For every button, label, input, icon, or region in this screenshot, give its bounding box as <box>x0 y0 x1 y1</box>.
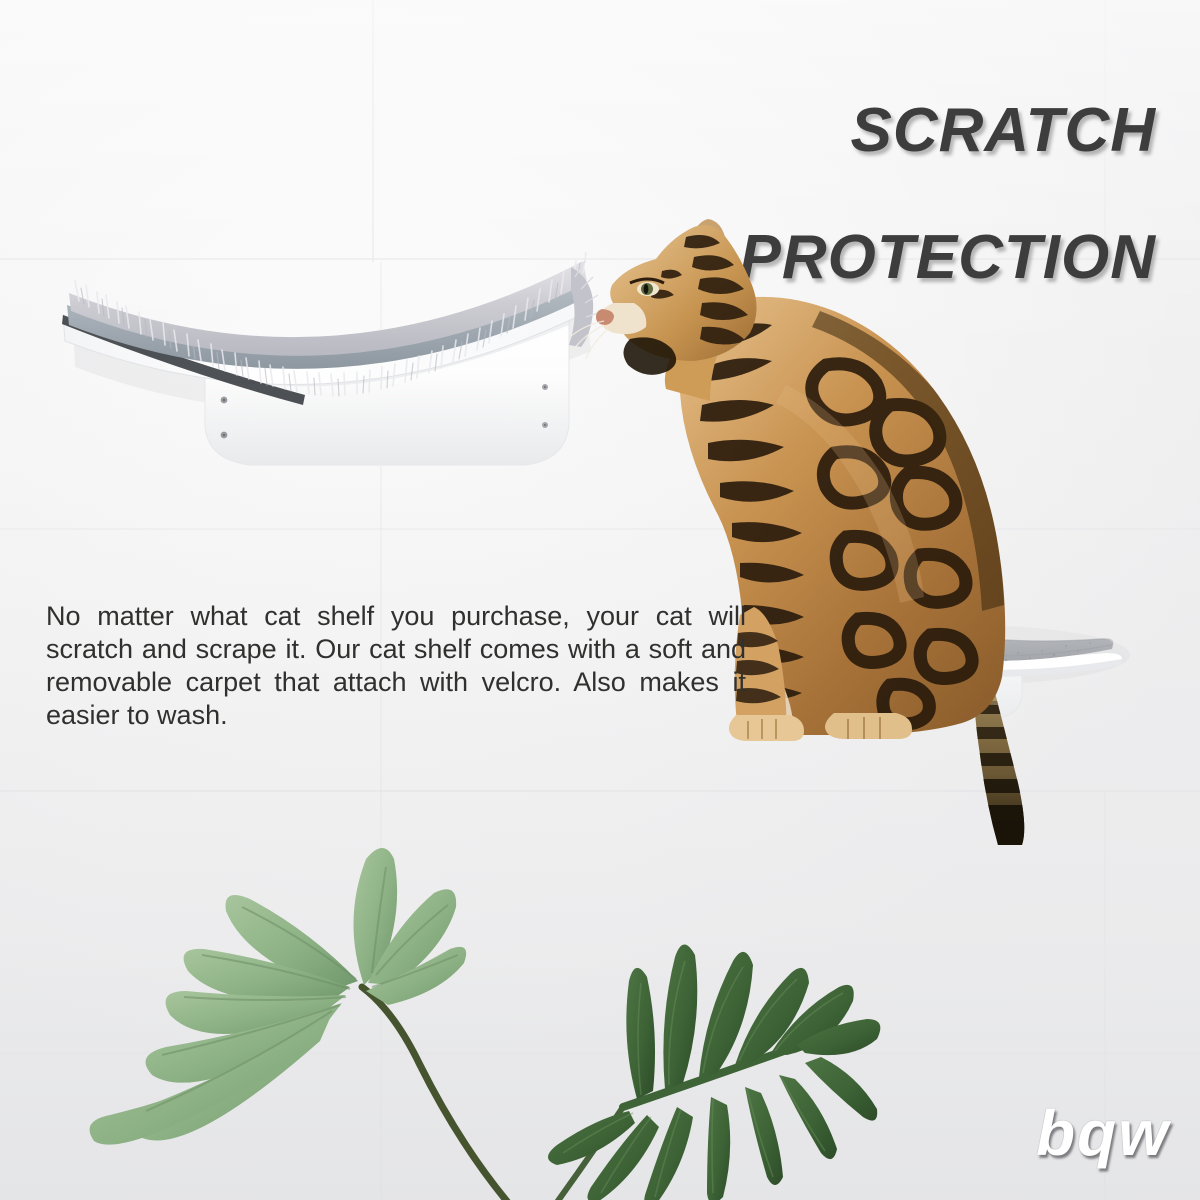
headline-line-1: SCRATCH <box>740 99 1156 162</box>
bengal-cat <box>590 215 1110 845</box>
screw-slot <box>544 386 546 388</box>
curved-wall-shelf <box>55 255 615 485</box>
product-banner: SCRATCH PROTECTION <box>0 0 1200 1200</box>
screw-slot <box>544 424 546 426</box>
leaf-stem <box>362 987 510 1200</box>
description-text: No matter what cat shelf you purchase, y… <box>46 600 746 732</box>
brand-logo: bqw <box>1036 1096 1170 1170</box>
screw-slot <box>223 399 226 402</box>
philodendron-leaf-dark <box>495 895 915 1200</box>
description-paragraph: No matter what cat shelf you purchase, y… <box>46 600 746 732</box>
tile-line-vertical <box>372 0 374 262</box>
leaf-pinnae <box>548 944 880 1200</box>
philodendron-leaf-light <box>0 815 510 1200</box>
cat-eye-pupil <box>644 284 649 294</box>
screw-slot <box>223 434 226 437</box>
leaf-lobes <box>90 848 467 1145</box>
